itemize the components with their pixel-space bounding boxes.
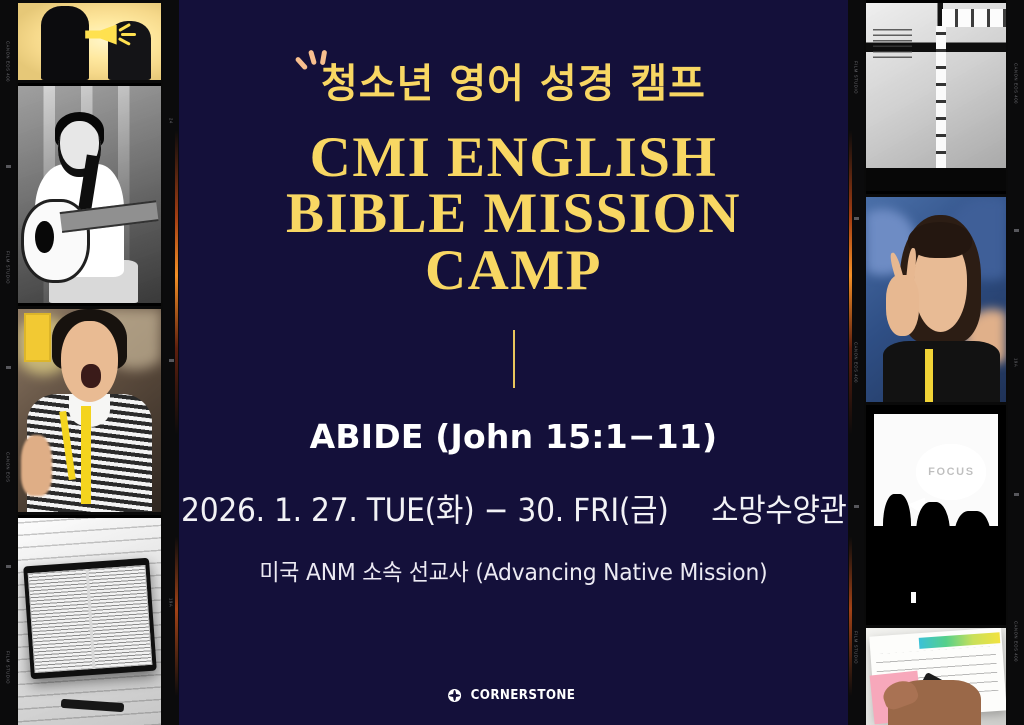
date-and-venue: 2026. 1. 27. TUE(화) − 30. FRI(금) 소망수양관	[181, 485, 847, 531]
english-title: CMI ENGLISH BIBLE MISSION CAMP	[286, 130, 741, 299]
photo-girl-v-sign	[866, 194, 1006, 405]
film-edge-mark: 19A	[1014, 358, 1019, 367]
camp-theme: ABIDE (John 15:1−11)	[310, 417, 718, 456]
cornerstone-logo: CORNERSTONE	[448, 688, 580, 703]
korean-subtitle-block: 청소년 영어 성경 캠프	[321, 62, 706, 106]
poster-center-panel: 청소년 영어 성경 캠프 CMI ENGLISH BIBLE MISSION C…	[179, 0, 848, 725]
photo-open-bible	[18, 515, 161, 725]
film-edge-mark: FILM STUDIO	[854, 631, 859, 664]
left-photo-strip: CANON EOS 400 FILM STUDIO CANON EOS FILM…	[0, 0, 179, 725]
film-edge-mark: FILM STUDIO	[6, 251, 11, 284]
film-edge-mark: CANON EOS 400	[6, 41, 11, 82]
camp-poster: CANON EOS 400 FILM STUDIO CANON EOS FILM…	[0, 0, 1024, 725]
film-edge-mark: 19A	[169, 598, 174, 607]
film-edge-dot	[6, 565, 11, 568]
film-light-leak	[175, 0, 178, 725]
photo-hand-writing	[866, 625, 1006, 725]
date-range: 2026. 1. 27. TUE(화) − 30. FRI(금)	[181, 491, 669, 529]
sparkle-icon	[297, 46, 337, 80]
focus-screen-text: FOCUS	[928, 466, 975, 478]
film-edge-dot	[1014, 493, 1019, 496]
globe-icon	[448, 689, 461, 702]
film-edge-dot	[854, 217, 859, 220]
film-rail-right-outer: CANON EOS 400 19A CANON EOS 400	[1008, 0, 1024, 725]
photo-whiteboard-grid	[866, 0, 1006, 194]
film-rail-left-outer: CANON EOS 400 FILM STUDIO CANON EOS FILM…	[0, 0, 16, 725]
cornerstone-logo-text: CORNERSTONE	[470, 688, 575, 703]
english-title-line-3: CAMP	[286, 243, 741, 299]
film-edge-mark: FILM STUDIO	[854, 61, 859, 94]
right-photo-strip: FILM STUDIO CANON EOS 400 FILM STUDIO CA…	[848, 0, 1024, 725]
english-title-line-1: CMI ENGLISH	[286, 130, 741, 186]
film-edge-mark: CANON EOS	[6, 452, 11, 483]
film-edge-mark: CANON EOS 400	[1014, 63, 1019, 104]
venue: 소망수양관	[711, 491, 847, 529]
photo-laughing-girl	[18, 306, 161, 515]
film-edge-dot	[1014, 229, 1019, 232]
film-edge-mark: CANON EOS 400	[854, 342, 859, 383]
gold-divider	[513, 330, 515, 388]
photo-focus-silhouettes: FOCUS	[866, 405, 1006, 625]
film-edge-dot	[6, 165, 11, 168]
photo-boy-guitar	[18, 83, 161, 306]
film-edge-mark: 24	[169, 118, 174, 124]
film-light-leak	[849, 0, 852, 725]
megaphone-icon	[85, 25, 116, 45]
english-title-line-2: BIBLE MISSION	[286, 186, 741, 242]
film-edge-mark: FILM STUDIO	[6, 651, 11, 684]
film-edge-dot	[854, 505, 859, 508]
film-edge-mark: CANON EOS 400	[1014, 621, 1019, 662]
photo-silhouette-megaphone	[18, 0, 161, 83]
korean-subtitle: 청소년 영어 성경 캠프	[321, 62, 706, 106]
film-edge-dot	[169, 359, 174, 362]
organizer-line: 미국 ANM 소속 선교사 (Advancing Native Mission)	[259, 553, 767, 587]
film-edge-dot	[6, 366, 11, 369]
